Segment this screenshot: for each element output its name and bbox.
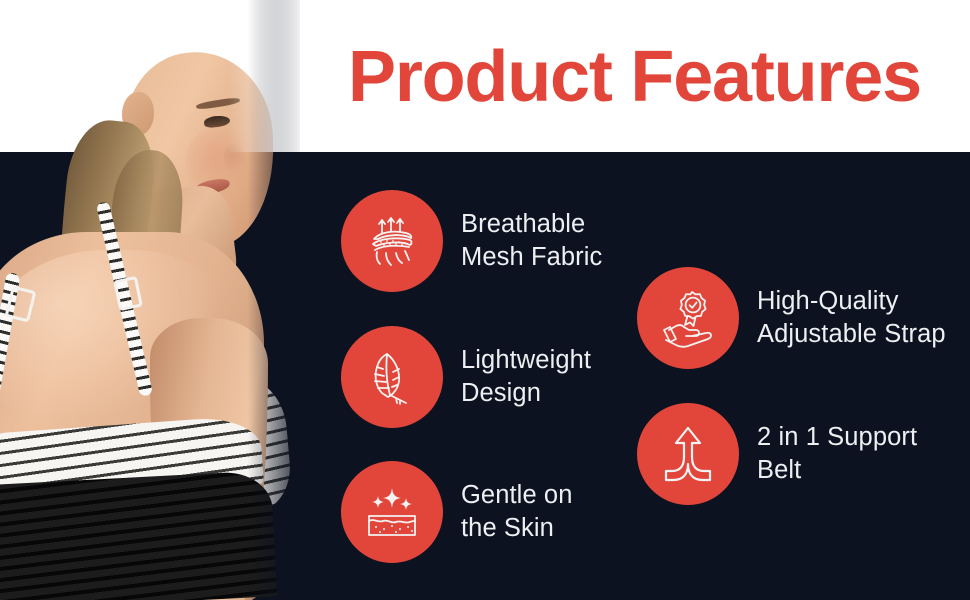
feature-gentle-on-the-skin: Gentle on the Skin (341, 461, 572, 563)
feature-breathable-mesh-fabric: Breathable Mesh Fabric (341, 190, 602, 292)
breathable-mesh-icon (341, 190, 443, 292)
feature-lightweight-design: Lightweight Design (341, 326, 591, 428)
product-features-banner: Product Features (0, 0, 970, 600)
skin-sparkle-icon (341, 461, 443, 563)
page-title: Product Features (348, 34, 908, 120)
feature-high-quality-adjustable-strap: High-Quality Adjustable Strap (637, 267, 946, 369)
feature-label: High-Quality Adjustable Strap (757, 285, 946, 351)
merging-arrow-icon (637, 403, 739, 505)
garment-black-body (0, 470, 277, 600)
feature-label: Gentle on the Skin (461, 479, 572, 545)
feature-label: Lightweight Design (461, 344, 591, 410)
quality-badge-hand-icon (637, 267, 739, 369)
feature-2-in-1-support-belt: 2 in 1 Support Belt (637, 403, 917, 505)
model-photo (0, 0, 300, 600)
feature-label: Breathable Mesh Fabric (461, 208, 602, 274)
feature-label: 2 in 1 Support Belt (757, 421, 917, 487)
feather-icon (341, 326, 443, 428)
